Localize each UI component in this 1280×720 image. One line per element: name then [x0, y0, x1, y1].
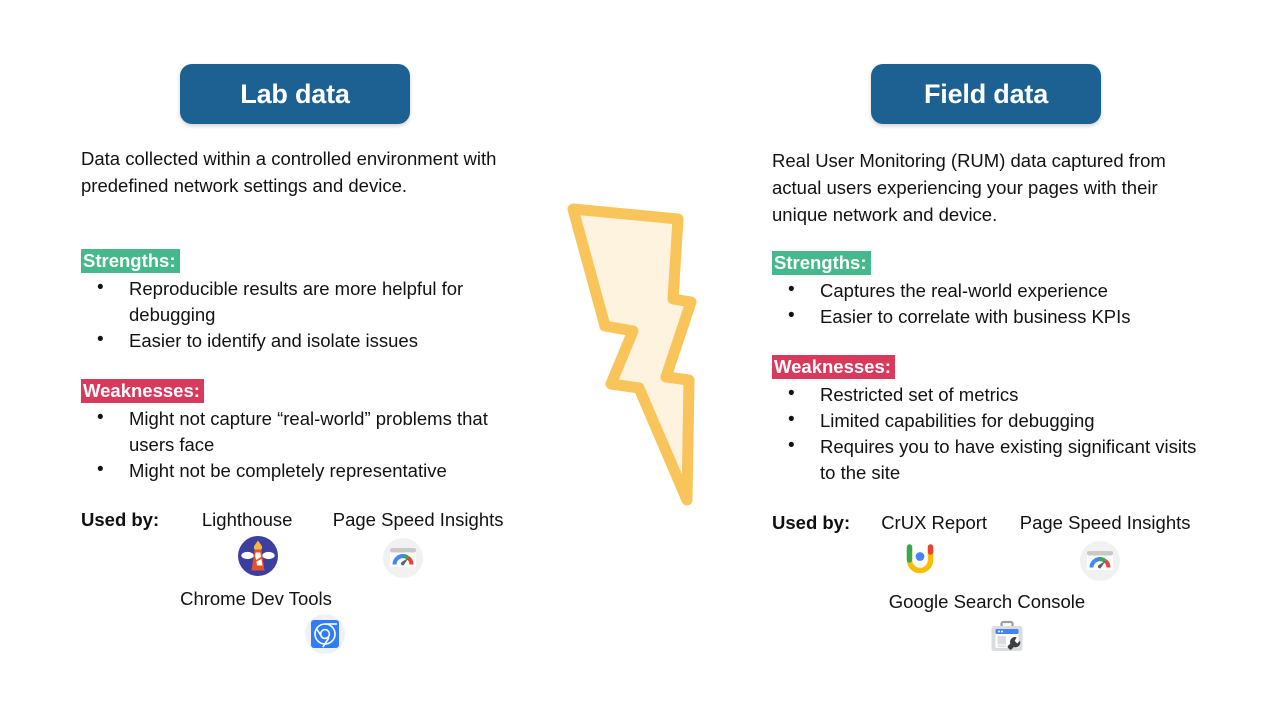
field-data-badge: Field data [871, 64, 1101, 124]
tool-name-lighthouse: Lighthouse [172, 508, 322, 532]
lab-weaknesses-section: Weaknesses: Might not capture “real-worl… [81, 379, 509, 484]
crux-report-icon [898, 537, 942, 581]
lab-tool-icons-row-2 [81, 612, 511, 662]
lighthouse-icon [236, 534, 280, 578]
lab-tool-name-row-2: Chrome Dev Tools [81, 588, 511, 610]
field-badge-row: Field data [771, 64, 1201, 124]
google-search-console-icon [985, 615, 1029, 659]
list-item: Might not be completely representative [81, 458, 509, 484]
lab-tool-names: Lighthouse Page Speed Insights [172, 508, 514, 532]
tool-name-chrome-dev-tools: Chrome Dev Tools [180, 588, 332, 609]
list-item: Requires you to have existing significan… [772, 434, 1200, 486]
tool-name-pagespeed-insights: Page Speed Insights [322, 508, 514, 532]
lab-weaknesses-heading: Weaknesses: [81, 379, 204, 403]
tool-name-crux-report: CrUX Report [858, 511, 1010, 535]
lab-intro-text: Data collected within a controlled envir… [81, 145, 501, 199]
lab-data-badge: Lab data [180, 64, 410, 124]
tool-name-google-search-console: Google Search Console [889, 591, 1085, 612]
field-strengths-heading: Strengths: [772, 251, 871, 275]
list-item: Limited capabilities for debugging [772, 408, 1200, 434]
field-tool-icons-row-1 [772, 537, 1202, 587]
field-weaknesses-section: Weaknesses: Restricted set of metrics Li… [772, 355, 1200, 486]
comparison-slide: Lab data Data collected within a control… [0, 0, 1280, 720]
field-used-by-row: Used by: CrUX Report Page Speed Insights [772, 511, 1202, 535]
lab-used-by-block: Used by: Lighthouse Page Speed Insights [81, 508, 511, 662]
field-data-column: Field data Real User Monitoring (RUM) da… [771, 0, 1201, 720]
field-tool-name-row-2: Google Search Console [772, 591, 1202, 613]
pagespeed-insights-icon [381, 536, 425, 580]
lab-strengths-heading: Strengths: [81, 249, 180, 273]
lab-data-column: Lab data Data collected within a control… [80, 0, 510, 720]
field-strengths-section: Strengths: Captures the real-world exper… [772, 251, 1200, 330]
list-item: Easier to identify and isolate issues [81, 328, 509, 354]
lab-data-badge-label: Lab data [240, 79, 349, 110]
lightning-bolt-icon [556, 192, 716, 517]
tool-name-pagespeed-insights: Page Speed Insights [1010, 511, 1200, 535]
field-used-by-label: Used by: [772, 511, 850, 535]
lab-used-by-row: Used by: Lighthouse Page Speed Insights [81, 508, 511, 532]
field-tool-icons-row-2 [772, 615, 1202, 665]
field-weaknesses-heading: Weaknesses: [772, 355, 895, 379]
lab-tool-icons-row-1 [81, 534, 511, 584]
field-strengths-list: Captures the real-world experience Easie… [772, 278, 1200, 330]
list-item: Might not capture “real-world” problems … [81, 406, 509, 458]
field-tool-names: CrUX Report Page Speed Insights [858, 511, 1202, 535]
list-item: Reproducible results are more helpful fo… [81, 276, 509, 328]
list-item: Captures the real-world experience [772, 278, 1200, 304]
field-data-badge-label: Field data [924, 79, 1048, 110]
list-item: Restricted set of metrics [772, 382, 1200, 408]
lab-strengths-list: Reproducible results are more helpful fo… [81, 276, 509, 354]
lab-strengths-section: Strengths: Reproducible results are more… [81, 249, 509, 354]
field-intro-text: Real User Monitoring (RUM) data captured… [772, 147, 1192, 228]
list-item: Easier to correlate with business KPIs [772, 304, 1200, 330]
pagespeed-insights-icon [1078, 539, 1122, 583]
field-weaknesses-list: Restricted set of metrics Limited capabi… [772, 382, 1200, 486]
chrome-devtools-icon [303, 612, 347, 656]
lab-used-by-label: Used by: [81, 508, 159, 532]
field-used-by-block: Used by: CrUX Report Page Speed Insights [772, 511, 1202, 665]
lab-badge-row: Lab data [80, 64, 510, 124]
lab-weaknesses-list: Might not capture “real-world” problems … [81, 406, 509, 484]
